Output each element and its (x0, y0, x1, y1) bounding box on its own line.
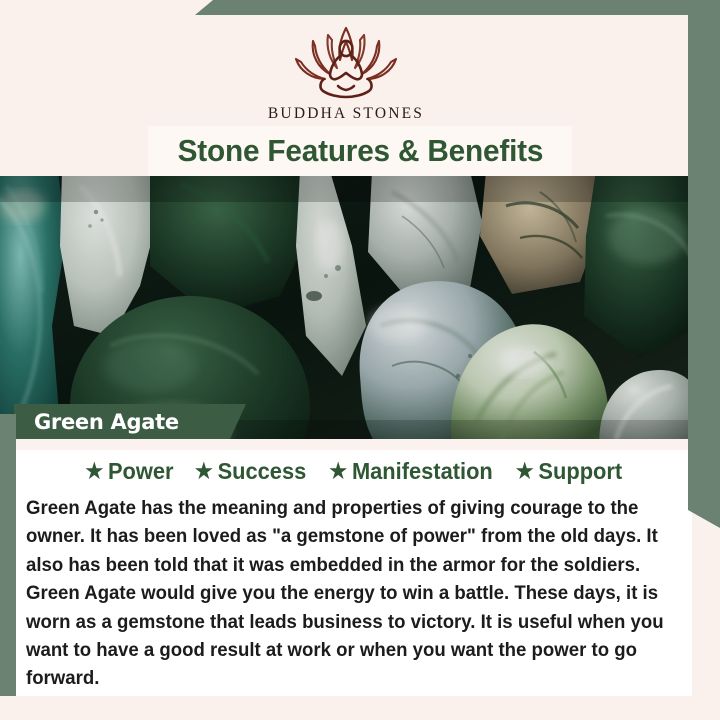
star-icon: ★ (516, 461, 534, 482)
star-icon: ★ (85, 461, 103, 482)
benefit-label: Success (217, 458, 306, 485)
frame-bottom-green-stub (0, 688, 16, 696)
benefit-label: Support (538, 458, 622, 485)
benefit-item-manifestation: ★ Manifestation (329, 458, 492, 485)
page-title-band: Stone Features & Benefits (148, 126, 572, 176)
page-title: Stone Features & Benefits (177, 133, 543, 169)
frame-top-bar (195, 0, 720, 15)
star-icon: ★ (329, 461, 347, 482)
benefit-item-power: ★ Power (85, 458, 173, 485)
stone-name: Green Agate (14, 410, 179, 434)
brand-logo: BUDDHA STONES (0, 22, 692, 123)
star-icon: ★ (195, 461, 213, 482)
benefit-item-support: ★ Support (516, 458, 622, 485)
benefit-item-success: ★ Success (195, 458, 306, 485)
benefit-label: Manifestation (352, 458, 493, 485)
benefit-label: Power (108, 458, 174, 485)
lotus-meditation-icon (280, 22, 412, 100)
frame-bottom-strip (0, 696, 720, 720)
stone-description: Green Agate has the meaning and properti… (26, 495, 669, 694)
stone-name-banner: Green Agate (14, 404, 246, 439)
stone-info-poster: BUDDHA STONES Stone Features & Benefits (0, 0, 720, 720)
frame-right-bar (688, 0, 720, 528)
frame-left-bar (0, 414, 16, 720)
brand-name: BUDDHA STONES (268, 105, 424, 123)
content-top-strip (16, 439, 692, 450)
benefits-row: ★ Power ★ Success ★ Manifestation ★ Supp… (16, 458, 692, 485)
